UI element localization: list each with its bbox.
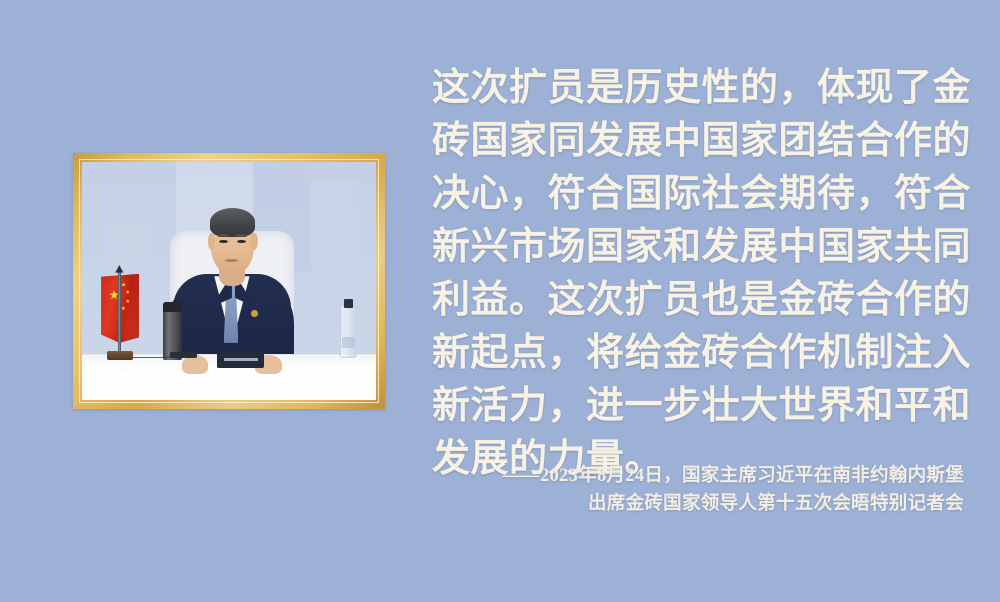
photo-scene: [82, 162, 376, 400]
backdrop-panel-d: [311, 181, 358, 271]
flag-base: [107, 351, 133, 359]
flag-pole: [118, 270, 121, 353]
backdrop-panel-c: [106, 224, 153, 276]
eyebrow-left: [218, 234, 229, 237]
photo-image: [82, 162, 376, 400]
attribution-line-2: 出席金砖国家领导人第十五次会晤特别记者会: [432, 490, 964, 518]
quote-text: 这次扩员是历史性的，体现了金砖国家同发展中国家团结合作的决心，符合国际社会期待，…: [432, 62, 972, 486]
attribution: ——2023年8月24日，国家主席习近平在南非约翰内斯堡 出席金砖国家领导人第十…: [432, 462, 964, 518]
nameplate: [217, 351, 264, 368]
attribution-line-1: ——2023年8月24日，国家主席习近平在南非约翰内斯堡: [432, 462, 964, 490]
water-bottle: [340, 306, 357, 358]
photo-frame: [73, 153, 385, 409]
eye-left: [219, 240, 228, 243]
ear-right: [250, 233, 258, 250]
eye-right: [237, 240, 246, 243]
eyebrow-right: [236, 234, 247, 237]
hair: [210, 208, 256, 237]
quote-poster: 这次扩员是历史性的，体现了金砖国家同发展中国家团结合作的决心，符合国际社会期待，…: [0, 0, 1000, 602]
lapel-pin-icon: [251, 310, 257, 317]
